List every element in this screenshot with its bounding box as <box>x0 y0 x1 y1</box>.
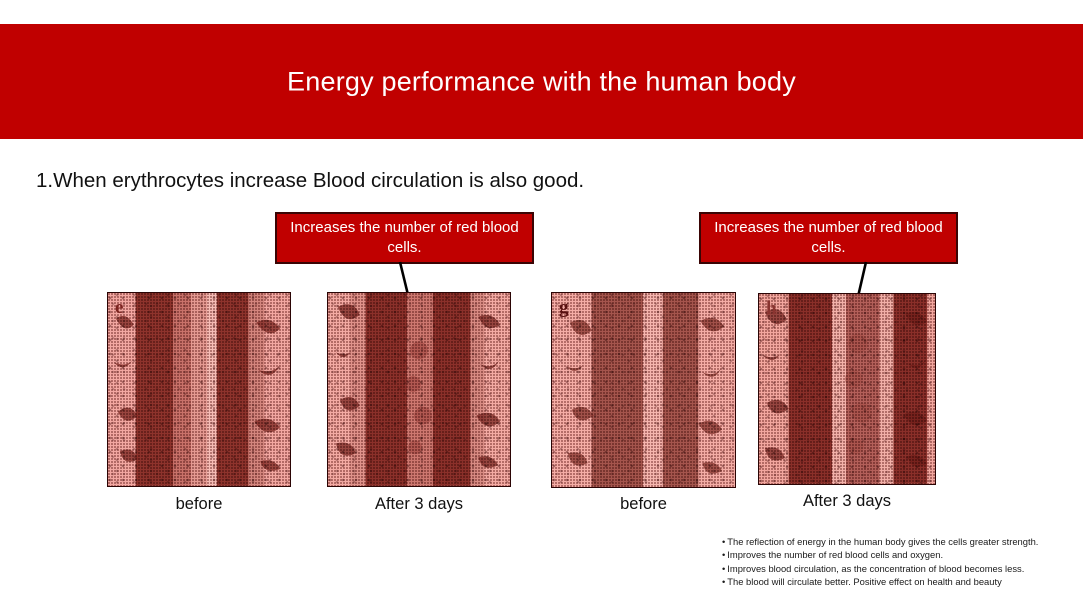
panel-caption-1: before <box>107 495 291 514</box>
list-item: •The reflection of energy in the human b… <box>722 535 1072 548</box>
callout-box-left: Increases the number of red blood cells. <box>275 212 534 264</box>
title-banner: Energy performance with the human body <box>0 24 1083 139</box>
bullet-text-2: Improves the number of red blood cells a… <box>727 549 943 560</box>
bullet-marker-2: • <box>722 548 725 561</box>
panel-4-speckle <box>759 294 935 484</box>
bullet-marker-1: • <box>722 535 725 548</box>
callout-box-right: Increases the number of red blood cells. <box>699 212 958 264</box>
bullet-text-1: The reflection of energy in the human bo… <box>727 536 1038 547</box>
panel-caption-2: After 3 days <box>327 495 511 514</box>
list-item: •The blood will circulate better. Positi… <box>722 575 1072 588</box>
panel-4-letter: h <box>766 299 777 318</box>
panel-1-speckle <box>108 293 290 486</box>
callout-text-left: Increases the number of red blood cells. <box>285 218 524 259</box>
micrograph-panel-4: h <box>758 293 936 485</box>
benefits-list: •The reflection of energy in the human b… <box>722 535 1072 588</box>
panel-caption-4: After 3 days <box>758 492 936 511</box>
slide-title: Energy performance with the human body <box>0 66 1083 97</box>
panel-1-letter: e <box>115 298 123 317</box>
panel-caption-3: before <box>551 495 736 514</box>
panel-2-speckle <box>328 293 510 486</box>
bullet-text-4: The blood will circulate better. Positiv… <box>727 576 1001 587</box>
micrograph-panel-2 <box>327 292 511 487</box>
list-item: •Improves the number of red blood cells … <box>722 548 1072 561</box>
callout-text-right: Increases the number of red blood cells. <box>709 218 948 259</box>
micrograph-panel-3: g <box>551 292 736 488</box>
bullet-marker-4: • <box>722 575 725 588</box>
micrograph-panel-1: e <box>107 292 291 487</box>
bullet-text-3: Improves blood circulation, as the conce… <box>727 563 1024 574</box>
panel-3-speckle <box>552 293 735 487</box>
list-item: •Improves blood circulation, as the conc… <box>722 562 1072 575</box>
bullet-marker-3: • <box>722 562 725 575</box>
panel-3-letter: g <box>559 298 569 317</box>
lead-statement: 1.When erythrocytes increase Blood circu… <box>36 169 584 193</box>
